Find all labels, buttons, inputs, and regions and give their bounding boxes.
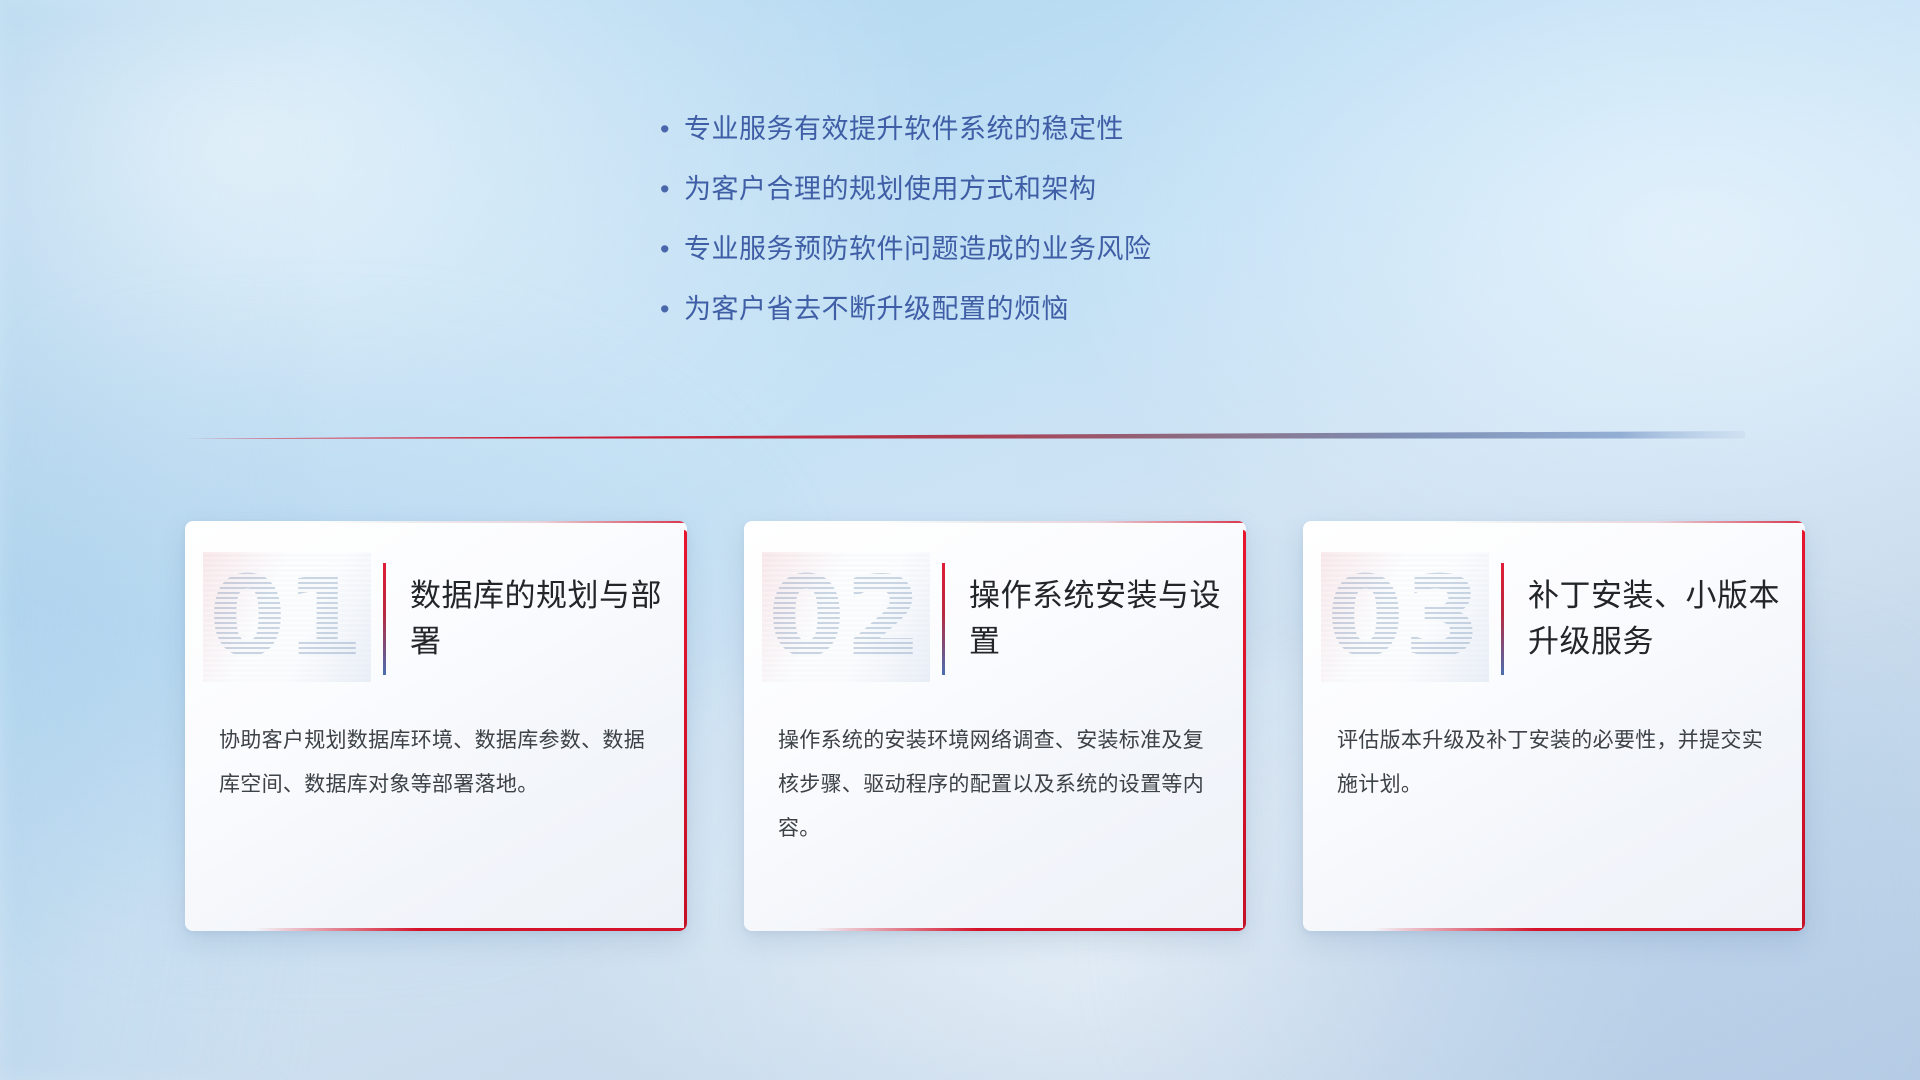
card-header: 02 操作系统安装与设置 bbox=[744, 521, 1246, 717]
bullet-dot-icon: • bbox=[660, 170, 684, 208]
card-bottom-accent bbox=[1373, 928, 1805, 931]
card-description: 操作系统的安装环境网络调查、安装标准及复核步骤、驱动程序的配置以及系统的设置等内… bbox=[744, 719, 1246, 851]
bullet-dot-icon: • bbox=[660, 290, 684, 328]
card-header: 01 数据库的规划与部署 bbox=[185, 521, 687, 717]
bullet-text: 为客户合理的规划使用方式和架构 bbox=[684, 170, 1097, 208]
card-number-text: 03 bbox=[1321, 552, 1489, 682]
card-title-rule bbox=[383, 563, 386, 675]
service-card[interactable]: 03 补丁安装、小版本升级服务 评估版本升级及补丁安装的必要性，并提交实施计划。 bbox=[1303, 521, 1805, 931]
card-header: 03 补丁安装、小版本升级服务 bbox=[1303, 521, 1805, 717]
service-card-group: 01 数据库的规划与部署 协助客户规划数据库环境、数据库参数、数据库空间、数据库… bbox=[185, 521, 1805, 931]
card-number-text: 01 bbox=[203, 552, 371, 682]
bullet-text: 专业服务预防软件问题造成的业务风险 bbox=[684, 230, 1152, 268]
bullet-text: 为客户省去不断升级配置的烦恼 bbox=[684, 290, 1069, 328]
list-item: • 为客户省去不断升级配置的烦恼 bbox=[660, 290, 1420, 328]
benefits-bullet-list: • 专业服务有效提升软件系统的稳定性 • 为客户合理的规划使用方式和架构 • 专… bbox=[660, 110, 1420, 350]
card-description: 协助客户规划数据库环境、数据库参数、数据库空间、数据库对象等部署落地。 bbox=[185, 719, 687, 807]
card-title: 数据库的规划与部署 bbox=[410, 573, 672, 665]
bullet-dot-icon: • bbox=[660, 230, 684, 268]
card-bottom-accent bbox=[255, 928, 687, 931]
card-title: 补丁安装、小版本升级服务 bbox=[1528, 573, 1790, 665]
card-number-watermark: 02 bbox=[762, 552, 930, 682]
tapered-divider-shape bbox=[185, 425, 1745, 443]
card-bottom-accent bbox=[814, 928, 1246, 931]
list-item: • 专业服务预防软件问题造成的业务风险 bbox=[660, 230, 1420, 268]
card-number-watermark: 03 bbox=[1321, 552, 1489, 682]
card-title-rule bbox=[942, 563, 945, 675]
service-card[interactable]: 02 操作系统安装与设置 操作系统的安装环境网络调查、安装标准及复核步骤、驱动程… bbox=[744, 521, 1246, 931]
card-title: 操作系统安装与设置 bbox=[969, 573, 1231, 665]
section-divider bbox=[185, 425, 1745, 443]
list-item: • 为客户合理的规划使用方式和架构 bbox=[660, 170, 1420, 208]
bullet-dot-icon: • bbox=[660, 110, 684, 148]
card-number-watermark: 01 bbox=[203, 552, 371, 682]
card-title-rule bbox=[1501, 563, 1504, 675]
service-card[interactable]: 01 数据库的规划与部署 协助客户规划数据库环境、数据库参数、数据库空间、数据库… bbox=[185, 521, 687, 931]
card-number-text: 02 bbox=[762, 552, 930, 682]
bullet-text: 专业服务有效提升软件系统的稳定性 bbox=[684, 110, 1124, 148]
card-description: 评估版本升级及补丁安装的必要性，并提交实施计划。 bbox=[1303, 719, 1805, 807]
list-item: • 专业服务有效提升软件系统的稳定性 bbox=[660, 110, 1420, 148]
